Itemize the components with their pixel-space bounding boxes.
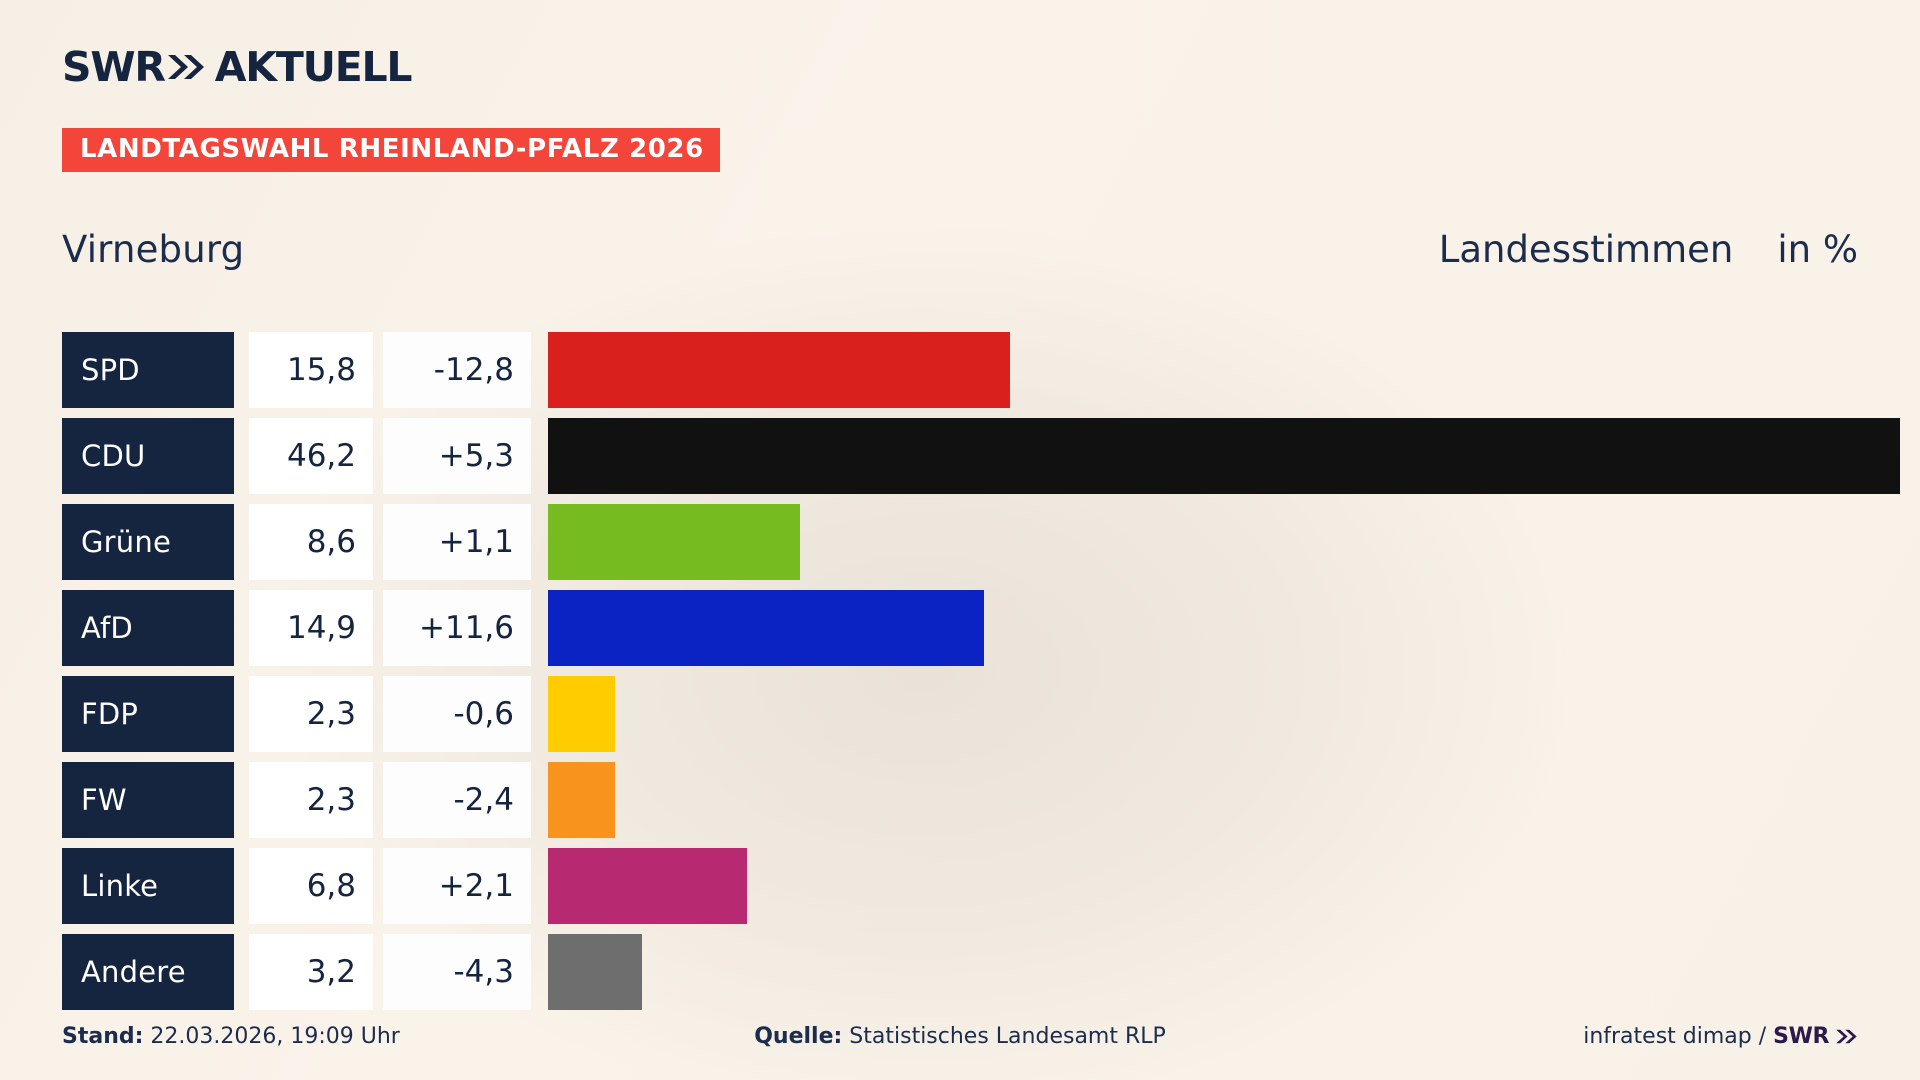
attribution: infratest dimap / SWR [1583,1024,1858,1049]
bar-track [548,676,1900,752]
party-label: SPD [62,332,234,408]
bar-track [548,418,1900,494]
party-percentage: 46,2 [249,418,373,494]
stand-info: Stand: 22.03.2026, 19:09 Uhr [62,1024,400,1049]
table-row: CDU46,2+5,3 [62,418,1900,494]
unit-label: in % [1777,228,1858,271]
party-bar [548,848,747,924]
party-bar [548,504,800,580]
party-change: -0,6 [383,676,531,752]
election-banner: LANDTAGSWAHL RHEINLAND-PFALZ 2026 [62,128,720,172]
party-change: -12,8 [383,332,531,408]
party-percentage: 2,3 [249,676,373,752]
vote-type-label: Landesstimmen [1439,228,1734,271]
quelle-value: Statistisches Landesamt RLP [849,1024,1166,1049]
party-bar [548,676,615,752]
table-row: Grüne8,6+1,1 [62,504,1900,580]
bar-track [548,332,1900,408]
region-title: Virneburg [62,228,244,271]
bar-track [548,590,1900,666]
stand-value: 22.03.2026, 19:09 Uhr [150,1024,399,1049]
party-percentage: 8,6 [249,504,373,580]
bar-track [548,848,1900,924]
attribution-text: infratest dimap / [1583,1024,1766,1049]
party-change: +5,3 [383,418,531,494]
party-label: Grüne [62,504,234,580]
table-row: FDP2,3-0,6 [62,676,1900,752]
party-change: -2,4 [383,762,531,838]
double-chevron-right-icon [168,52,206,82]
party-label: FDP [62,676,234,752]
attribution-swr-text: SWR [1773,1024,1829,1049]
party-bar [548,418,1900,494]
quelle-label: Quelle: [754,1024,842,1049]
party-bar [548,590,984,666]
chart-meta: Landesstimmen in % [1439,228,1858,271]
party-label: Linke [62,848,234,924]
table-row: SPD15,8-12,8 [62,332,1900,408]
party-percentage: 2,3 [249,762,373,838]
results-chart: SPD15,8-12,8CDU46,2+5,3Grüne8,6+1,1AfD14… [62,332,1900,1020]
chart-footer: Stand: 22.03.2026, 19:09 Uhr Quelle: Sta… [62,1024,1858,1058]
party-change: +1,1 [383,504,531,580]
party-label: FW [62,762,234,838]
party-percentage: 6,8 [249,848,373,924]
chart-page: SWR AKTUELL LANDTAGSWAHL RHEINLAND-PFALZ… [0,0,1920,1080]
bar-track [548,504,1900,580]
party-bar [548,332,1010,408]
party-change: +2,1 [383,848,531,924]
source-info: Quelle: Statistisches Landesamt RLP [754,1024,1166,1049]
party-label: AfD [62,590,234,666]
party-change: +11,6 [383,590,531,666]
swr-aktuell-logo: SWR AKTUELL [62,44,411,90]
party-bar [548,934,642,1010]
table-row: FW2,3-2,4 [62,762,1900,838]
bar-track [548,762,1900,838]
subheader: Virneburg Landesstimmen in % [62,228,1858,274]
party-percentage: 3,2 [249,934,373,1010]
party-percentage: 15,8 [249,332,373,408]
table-row: Linke6,8+2,1 [62,848,1900,924]
party-change: -4,3 [383,934,531,1010]
party-percentage: 14,9 [249,590,373,666]
party-label: CDU [62,418,234,494]
double-chevron-right-icon [1836,1028,1858,1045]
logo-swr-text: SWR [62,47,165,88]
table-row: Andere3,2-4,3 [62,934,1900,1010]
party-label: Andere [62,934,234,1010]
bar-track [548,934,1900,1010]
table-row: AfD14,9+11,6 [62,590,1900,666]
logo-aktuell-text: AKTUELL [215,47,412,88]
party-bar [548,762,615,838]
stand-label: Stand: [62,1024,143,1049]
